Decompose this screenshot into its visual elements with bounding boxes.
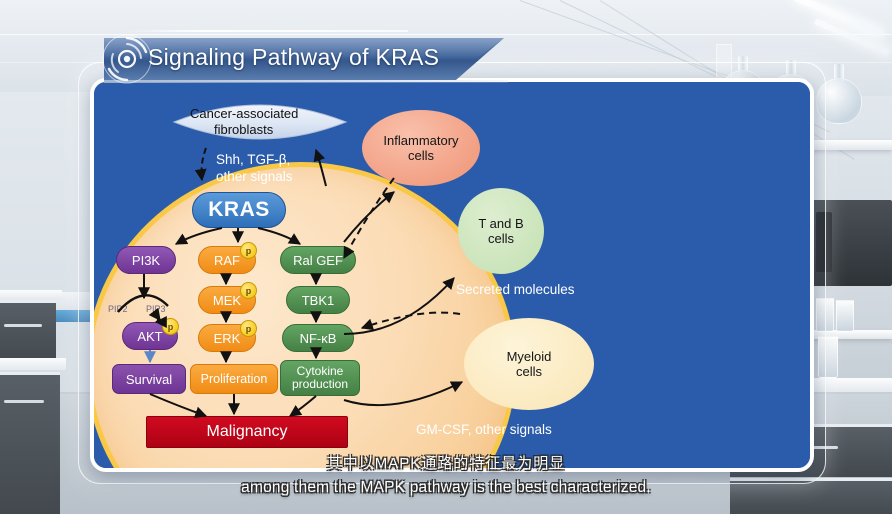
pip3-label: PIP3 bbox=[146, 304, 166, 314]
kras-label: KRAS bbox=[208, 198, 270, 222]
tbk1-node: TBK1 bbox=[286, 286, 350, 314]
raf-label: RAF bbox=[214, 253, 240, 268]
title-accent-line bbox=[128, 30, 408, 32]
pip2-label: PIP2 bbox=[108, 304, 128, 314]
kras-node: KRAS bbox=[192, 192, 286, 228]
malignancy-label: Malignancy bbox=[207, 423, 288, 441]
myeloid-cells-label-line1: Myeloid bbox=[507, 349, 552, 364]
myeloid-cells-ellipse: Myeloid cells bbox=[464, 318, 594, 410]
akt-label: AKT bbox=[137, 329, 162, 344]
cytokine-label-line2: production bbox=[292, 378, 348, 391]
fibroblasts-label-line2: fibroblasts bbox=[214, 122, 273, 137]
secreted-molecules-label: Secreted molecules bbox=[456, 282, 575, 297]
ralgef-label: Ral GEF bbox=[293, 253, 343, 268]
erk-phospho-badge: p bbox=[240, 320, 257, 337]
t-and-b-cells-circle: T and B cells bbox=[458, 188, 544, 274]
tbk1-label: TBK1 bbox=[302, 293, 335, 308]
pi3k-node: PI3K bbox=[116, 246, 176, 274]
subtitle-english: among them the MAPK pathway is the best … bbox=[0, 479, 892, 497]
mek-phospho-badge: p bbox=[240, 282, 257, 299]
signals-label-line2: other signals bbox=[216, 169, 293, 184]
gm-csf-label: GM-CSF, other signals bbox=[416, 422, 552, 437]
title-underline bbox=[104, 80, 508, 83]
left-counter-2 bbox=[0, 358, 66, 370]
mek-label: MEK bbox=[213, 293, 241, 308]
diagram-panel: Cancer-associated fibroblasts Shh, TGF-β… bbox=[90, 78, 814, 472]
ralgef-node: Ral GEF bbox=[280, 246, 356, 274]
subtitle-block: 其中以MAPK通路的特征最为明显 among them the MAPK pat… bbox=[0, 452, 892, 497]
cabinet-handle bbox=[4, 400, 44, 403]
title-banner: Signaling Pathway of KRAS bbox=[104, 38, 504, 80]
inflammatory-cells-label-line2: cells bbox=[408, 148, 434, 163]
signals-label-line1: Shh, TGF-β, bbox=[216, 152, 290, 167]
t-and-b-cells-label-line2: cells bbox=[488, 231, 514, 246]
raf-phospho-badge: p bbox=[240, 242, 257, 259]
akt-phospho-badge: p bbox=[162, 318, 179, 335]
fibroblasts-label-line1: Cancer-associated bbox=[190, 106, 298, 121]
radar-target-icon bbox=[100, 32, 154, 86]
cytokine-production-outcome: Cytokine production bbox=[280, 360, 360, 396]
proliferation-outcome: Proliferation bbox=[190, 364, 278, 394]
survival-outcome: Survival bbox=[112, 364, 186, 394]
survival-label: Survival bbox=[126, 372, 172, 387]
malignancy-box: Malignancy bbox=[146, 416, 348, 448]
page-title: Signaling Pathway of KRAS bbox=[148, 44, 439, 71]
beaker bbox=[836, 300, 854, 332]
nfkb-label: NF-κB bbox=[300, 331, 337, 346]
pi3k-label: PI3K bbox=[132, 253, 160, 268]
left-counter bbox=[0, 290, 62, 300]
left-cabinet-upper bbox=[0, 300, 56, 365]
cabinet-handle bbox=[4, 324, 42, 327]
subtitle-chinese: 其中以MAPK通路的特征最为明显 bbox=[0, 452, 892, 473]
proliferation-label: Proliferation bbox=[201, 372, 268, 386]
myeloid-cells-label-line2: cells bbox=[516, 364, 542, 379]
diagram-canvas: Cancer-associated fibroblasts Shh, TGF-β… bbox=[94, 82, 810, 468]
screenshot-stage: Signaling Pathway of KRAS Cancer-associa… bbox=[0, 0, 892, 514]
erk-label: ERK bbox=[214, 331, 241, 346]
nfkb-node: NF-κB bbox=[282, 324, 354, 352]
inflammatory-cells-ellipse: Inflammatory cells bbox=[362, 110, 480, 186]
inflammatory-cells-label-line1: Inflammatory bbox=[383, 133, 458, 148]
t-and-b-cells-label-line1: T and B bbox=[478, 216, 523, 231]
